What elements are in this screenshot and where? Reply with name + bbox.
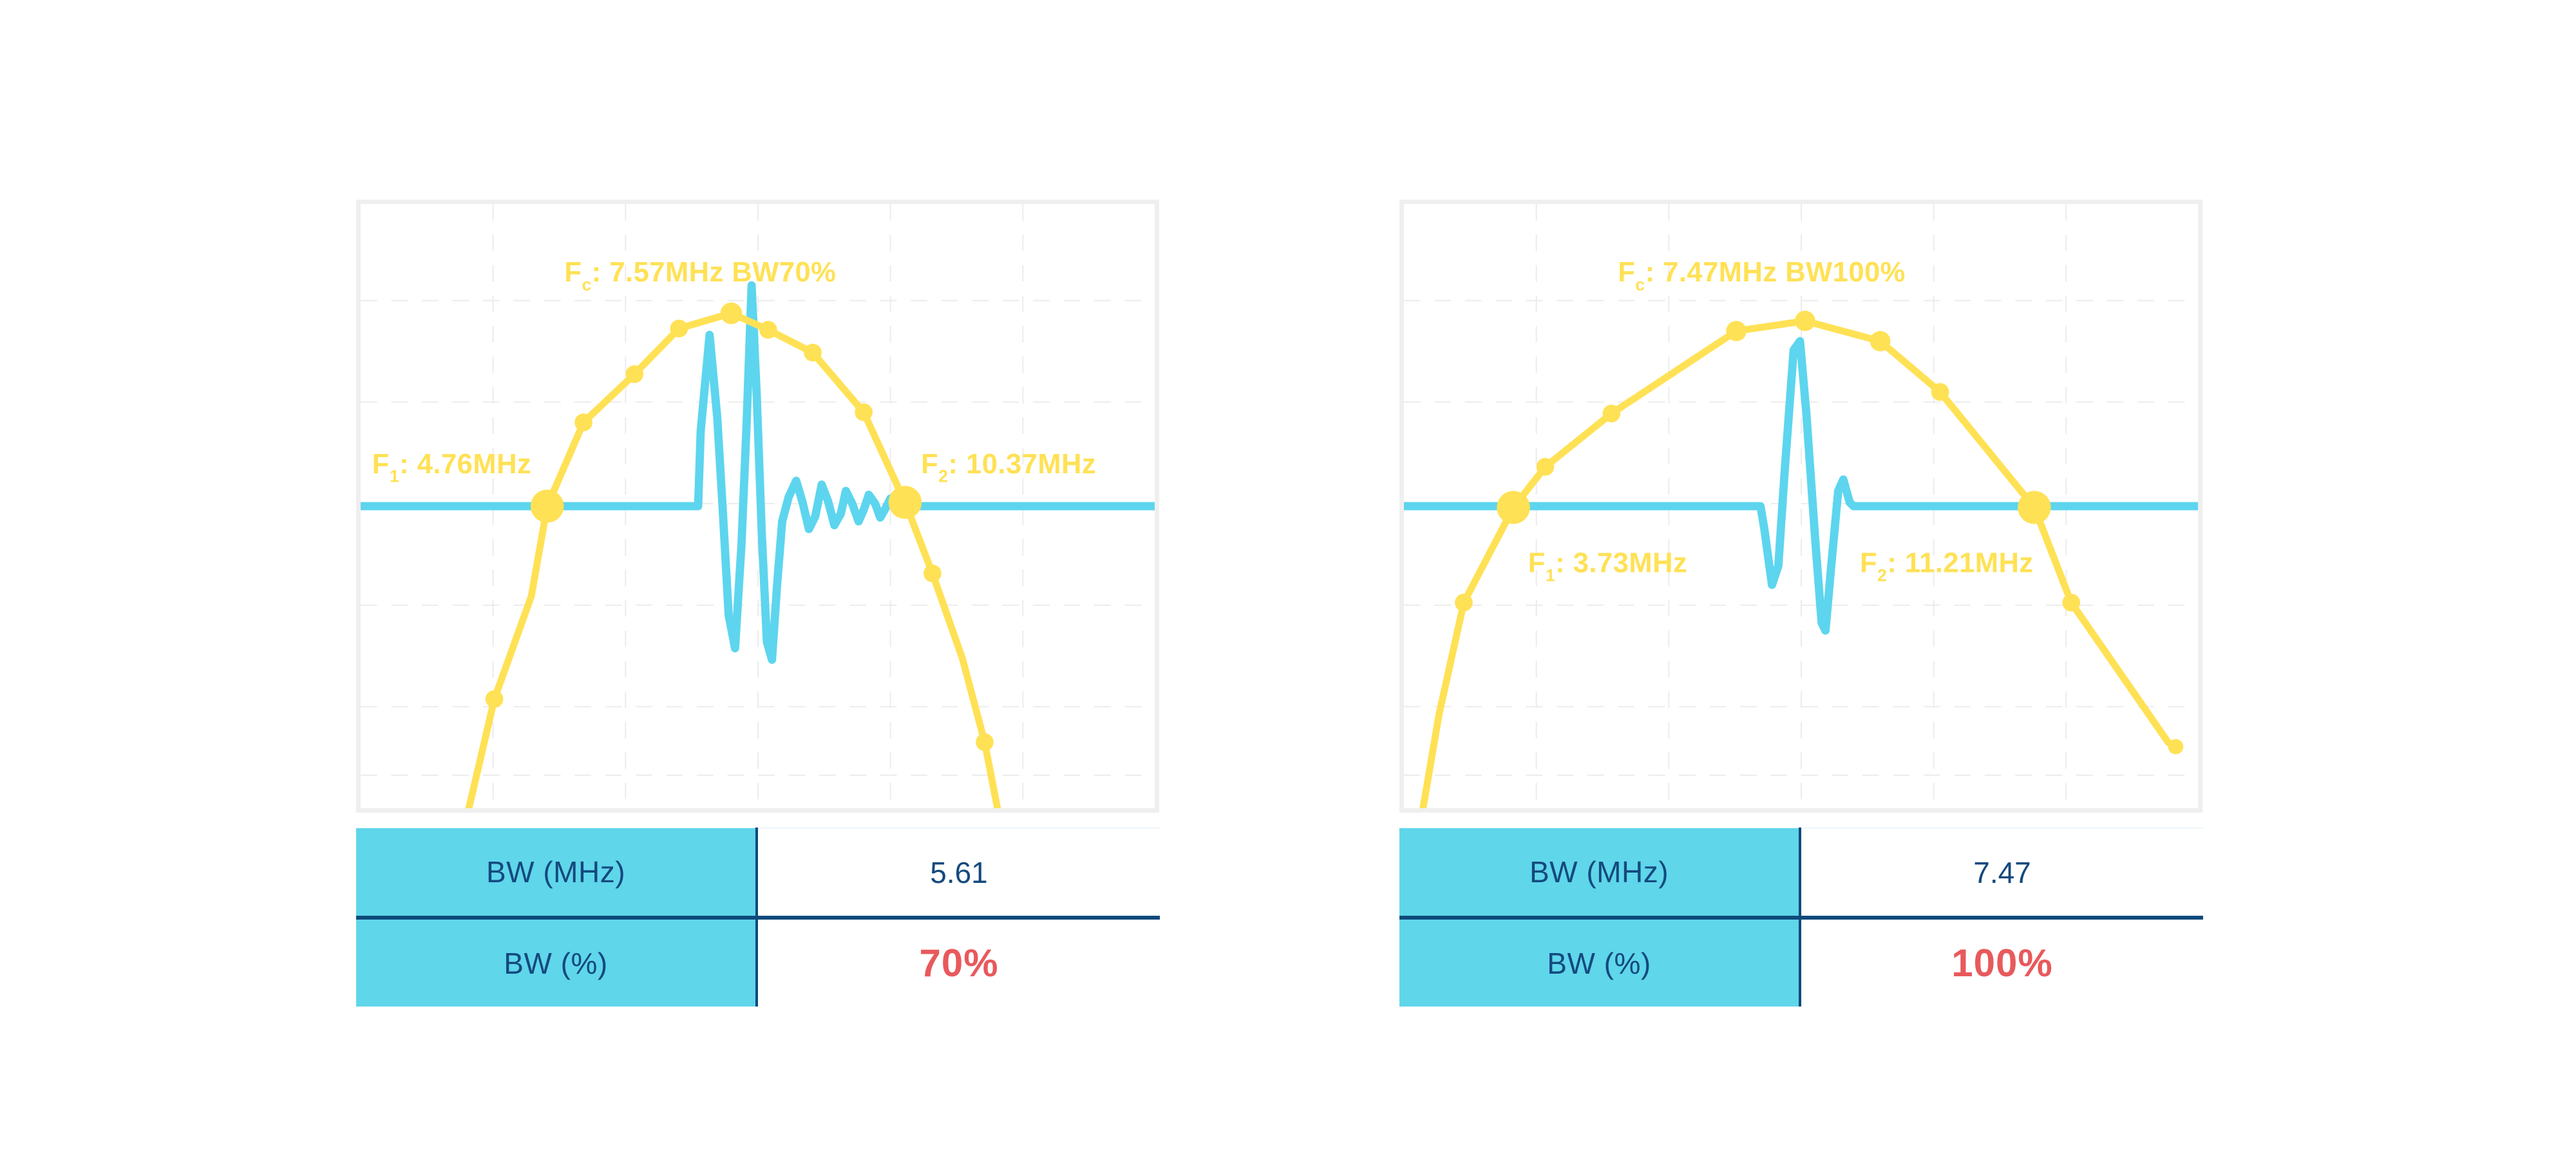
bw-pct-value-70: 70% (757, 918, 1160, 1007)
bw-pct-value-100: 100% (1800, 918, 2203, 1007)
fc-prefix-100: F (1618, 257, 1635, 288)
f2-sub-70: 2 (938, 467, 948, 486)
fc-sub-70: c (582, 275, 591, 294)
f2-prefix-100: F (1860, 548, 1877, 579)
f2-sub-100: 2 (1877, 565, 1887, 585)
svg-text:Fc: 7.47MHz BW100%: Fc: 7.47MHz BW100% (1618, 257, 1906, 294)
bw-table-100: BW (MHz) 7.47 BW (%) 100% (1399, 828, 2203, 1007)
panel-bw70: Fc: 7.57MHz BW70% F1: 4.76MHz F2: 10.37M… (356, 200, 1159, 813)
f2-text-70: : 10.37MHz (949, 449, 1097, 480)
fc-annotation-70: Fc: 7.57MHz BW70% (564, 257, 836, 294)
bw-mhz-label-70: BW (MHz) (356, 828, 757, 918)
plot-frame-bw70: Fc: 7.57MHz BW70% F1: 4.76MHz F2: 10.37M… (356, 200, 1159, 813)
bandwidth-chart-70: Fc: 7.57MHz BW70% F1: 4.76MHz F2: 10.37M… (361, 204, 1155, 808)
f2-text-100: : 11.21MHz (1887, 548, 2033, 579)
bandwidth-chart-100: Fc: 7.47MHz BW100% F1: 3.73MHz F2: 11.21… (1404, 204, 2198, 808)
fc-sub-100: c (1635, 275, 1645, 294)
panel-bw100: Fc: 7.47MHz BW100% F1: 3.73MHz F2: 11.21… (1399, 200, 2202, 813)
bw-mhz-value-100: 7.47 (1800, 828, 2203, 918)
plot-frame-bw100: Fc: 7.47MHz BW100% F1: 3.73MHz F2: 11.21… (1399, 200, 2202, 813)
svg-text:F2: 10.37MHz: F2: 10.37MHz (921, 449, 1096, 486)
svg-text:F1: 4.76MHz: F1: 4.76MHz (372, 449, 531, 486)
f1-marker-70 (531, 489, 563, 522)
svg-text:F1: 3.73MHz: F1: 3.73MHz (1528, 548, 1687, 585)
f1-annotation-100: F1: 3.73MHz (1528, 548, 1687, 585)
fc-prefix-70: F (564, 257, 582, 288)
bw-pct-label-70: BW (%) (356, 918, 757, 1007)
svg-text:Fc: 7.57MHz BW70%: Fc: 7.57MHz BW70% (564, 257, 836, 294)
fc-annotation-100: Fc: 7.47MHz BW100% (1618, 257, 1906, 294)
f2-annotation-100: F2: 11.21MHz (1860, 548, 2034, 585)
f2-annotation-70: F2: 10.37MHz (921, 449, 1096, 486)
f1-text-100: : 3.73MHz (1555, 548, 1687, 579)
f1-sub-70: 1 (390, 467, 399, 486)
table-row: BW (%) 70% (356, 918, 1160, 1007)
f1-prefix-100: F (1528, 548, 1546, 579)
f2-prefix-70: F (921, 449, 938, 480)
figure-root: Fc: 7.57MHz BW70% F1: 4.76MHz F2: 10.37M… (0, 0, 2576, 1154)
svg-text:F2: 11.21MHz: F2: 11.21MHz (1860, 548, 2034, 585)
spectrum-markers-100 (1455, 311, 2183, 755)
f1-sub-100: 1 (1546, 565, 1555, 585)
f1-annotation-70: F1: 4.76MHz (372, 449, 531, 486)
fc-text-100: : 7.47MHz BW100% (1645, 257, 1906, 288)
fc-text-70: : 7.57MHz BW70% (592, 257, 837, 288)
f1-marker-100 (1497, 491, 1529, 524)
f1-text-70: : 4.76MHz (399, 449, 531, 480)
spectrum-curve-70 (469, 313, 998, 808)
bw-mhz-label-100: BW (MHz) (1399, 828, 1800, 918)
f1-prefix-70: F (372, 449, 390, 480)
bw-mhz-value-70: 5.61 (757, 828, 1160, 918)
table-row: BW (%) 100% (1399, 918, 2203, 1007)
f2-marker-70 (889, 486, 922, 518)
f2-marker-100 (2018, 491, 2050, 524)
table-row: BW (MHz) 5.61 (356, 828, 1160, 918)
bw-pct-label-100: BW (%) (1399, 918, 1800, 1007)
table-row: BW (MHz) 7.47 (1399, 828, 2203, 918)
bw-table-70: BW (MHz) 5.61 BW (%) 70% (356, 828, 1160, 1007)
